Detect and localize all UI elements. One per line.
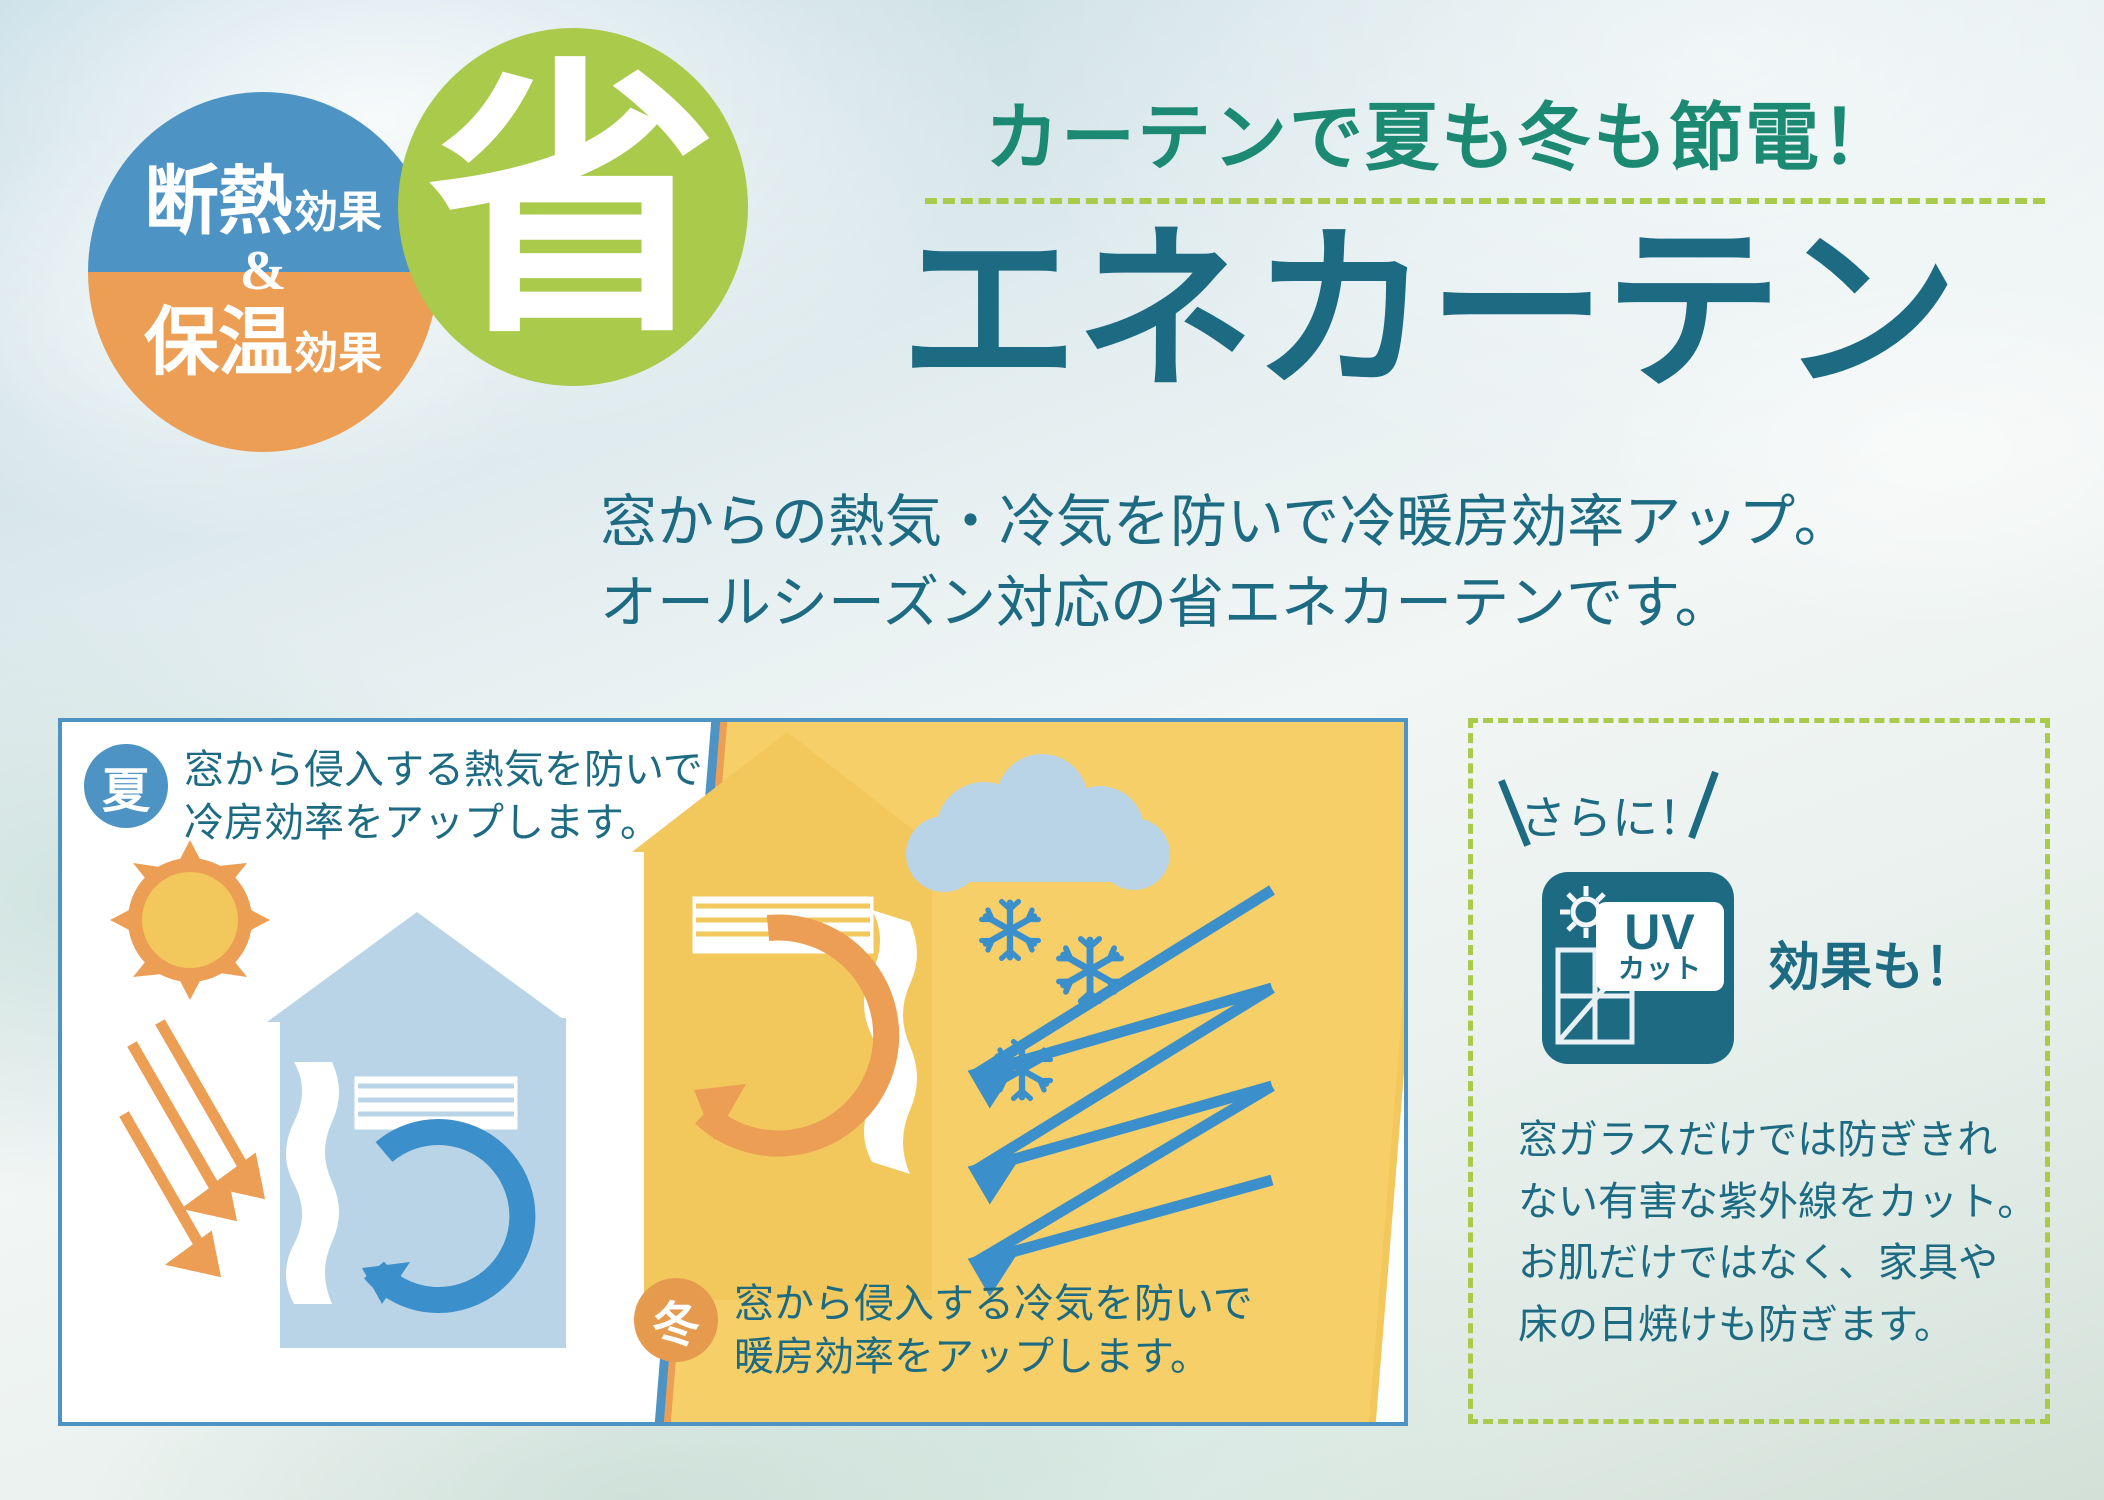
badge-insulation-main: 断熱 (144, 164, 292, 239)
summer-caption: 夏 窓から侵入する熱気を防いで 冷房効率をアップします。 (84, 744, 703, 850)
page-title: エネカーテン (900, 222, 1956, 400)
heat-ray-arrow-icon (124, 1022, 258, 1270)
tagline: カーテンで夏も冬も節電！ (985, 78, 1897, 185)
season-illustration-panel: 夏 窓から侵入する熱気を防いで 冷房効率をアップします。 冬 窓から侵入する冷気… (58, 718, 1408, 1426)
uv-description-line1: 窓ガラスだけでは防ぎきれ (1518, 1110, 2037, 1172)
insulation-badge-text: 断熱 効果 & 保温 効果 (88, 92, 438, 452)
header-description-line1: 窓からの熱気・冷気を防いで冷暖房効率アップ。 (600, 482, 1851, 563)
badge-line-insulation: 断熱 効果 (144, 164, 382, 239)
badge-line-warmth: 保温 効果 (144, 305, 382, 380)
sun-icon (110, 840, 270, 1000)
summer-caption-line1: 窓から侵入する熱気を防いで (184, 744, 703, 797)
winter-caption-line2: 暖房効率をアップします。 (734, 1331, 1253, 1384)
winter-caption: 冬 窓から侵入する冷気を防いで 暖房効率をアップします。 (634, 1278, 1253, 1384)
winter-caption-line1: 窓から侵入する冷気を防いで (734, 1278, 1253, 1331)
summer-caption-text: 窓から侵入する熱気を防いで 冷房効率をアップします。 (184, 744, 703, 850)
uv-badge-line2: カット (1596, 956, 1724, 983)
uv-effect-label: 効果も！ (1768, 925, 1976, 1000)
summer-caption-line2: 冷房効率をアップします。 (184, 797, 703, 850)
uv-badge-line1: UV (1596, 908, 1724, 956)
uv-cut-badge: UV カット (1542, 872, 1734, 1064)
eco-logo-circle: 省 (398, 28, 748, 386)
summer-chip: 夏 (84, 744, 168, 828)
winter-chip: 冬 (634, 1278, 718, 1362)
uv-description-line2: ない有害な紫外線をカット。 (1518, 1172, 2037, 1234)
eco-logo-char: 省 (428, 74, 718, 335)
uv-description-line3: お肌だけではなく、家具や (1518, 1233, 2037, 1295)
badge-warmth-sub: 効果 (294, 332, 382, 376)
winter-caption-text: 窓から侵入する冷気を防いで 暖房効率をアップします。 (734, 1278, 1253, 1384)
badge-ampersand: & (240, 243, 287, 299)
uv-kicker: さらに！ (1520, 782, 1704, 848)
uv-description: 窓ガラスだけでは防ぎきれ ない有害な紫外線をカット。 お肌だけではなく、家具や … (1518, 1110, 2037, 1356)
badge-warmth-main: 保温 (144, 305, 292, 380)
cloud-icon (906, 754, 1170, 892)
uv-description-line4: 床の日焼けも防ぎます。 (1518, 1295, 2037, 1357)
header-description-line2: オールシーズン対応の省エネカーテンです。 (600, 563, 1851, 644)
badge-insulation-sub: 効果 (294, 191, 382, 235)
header-description: 窓からの熱気・冷気を防いで冷暖房効率アップ。 オールシーズン対応の省エネカーテン… (600, 482, 1851, 644)
uv-badge-text: UV カット (1596, 902, 1724, 991)
dashed-divider (925, 198, 2045, 204)
